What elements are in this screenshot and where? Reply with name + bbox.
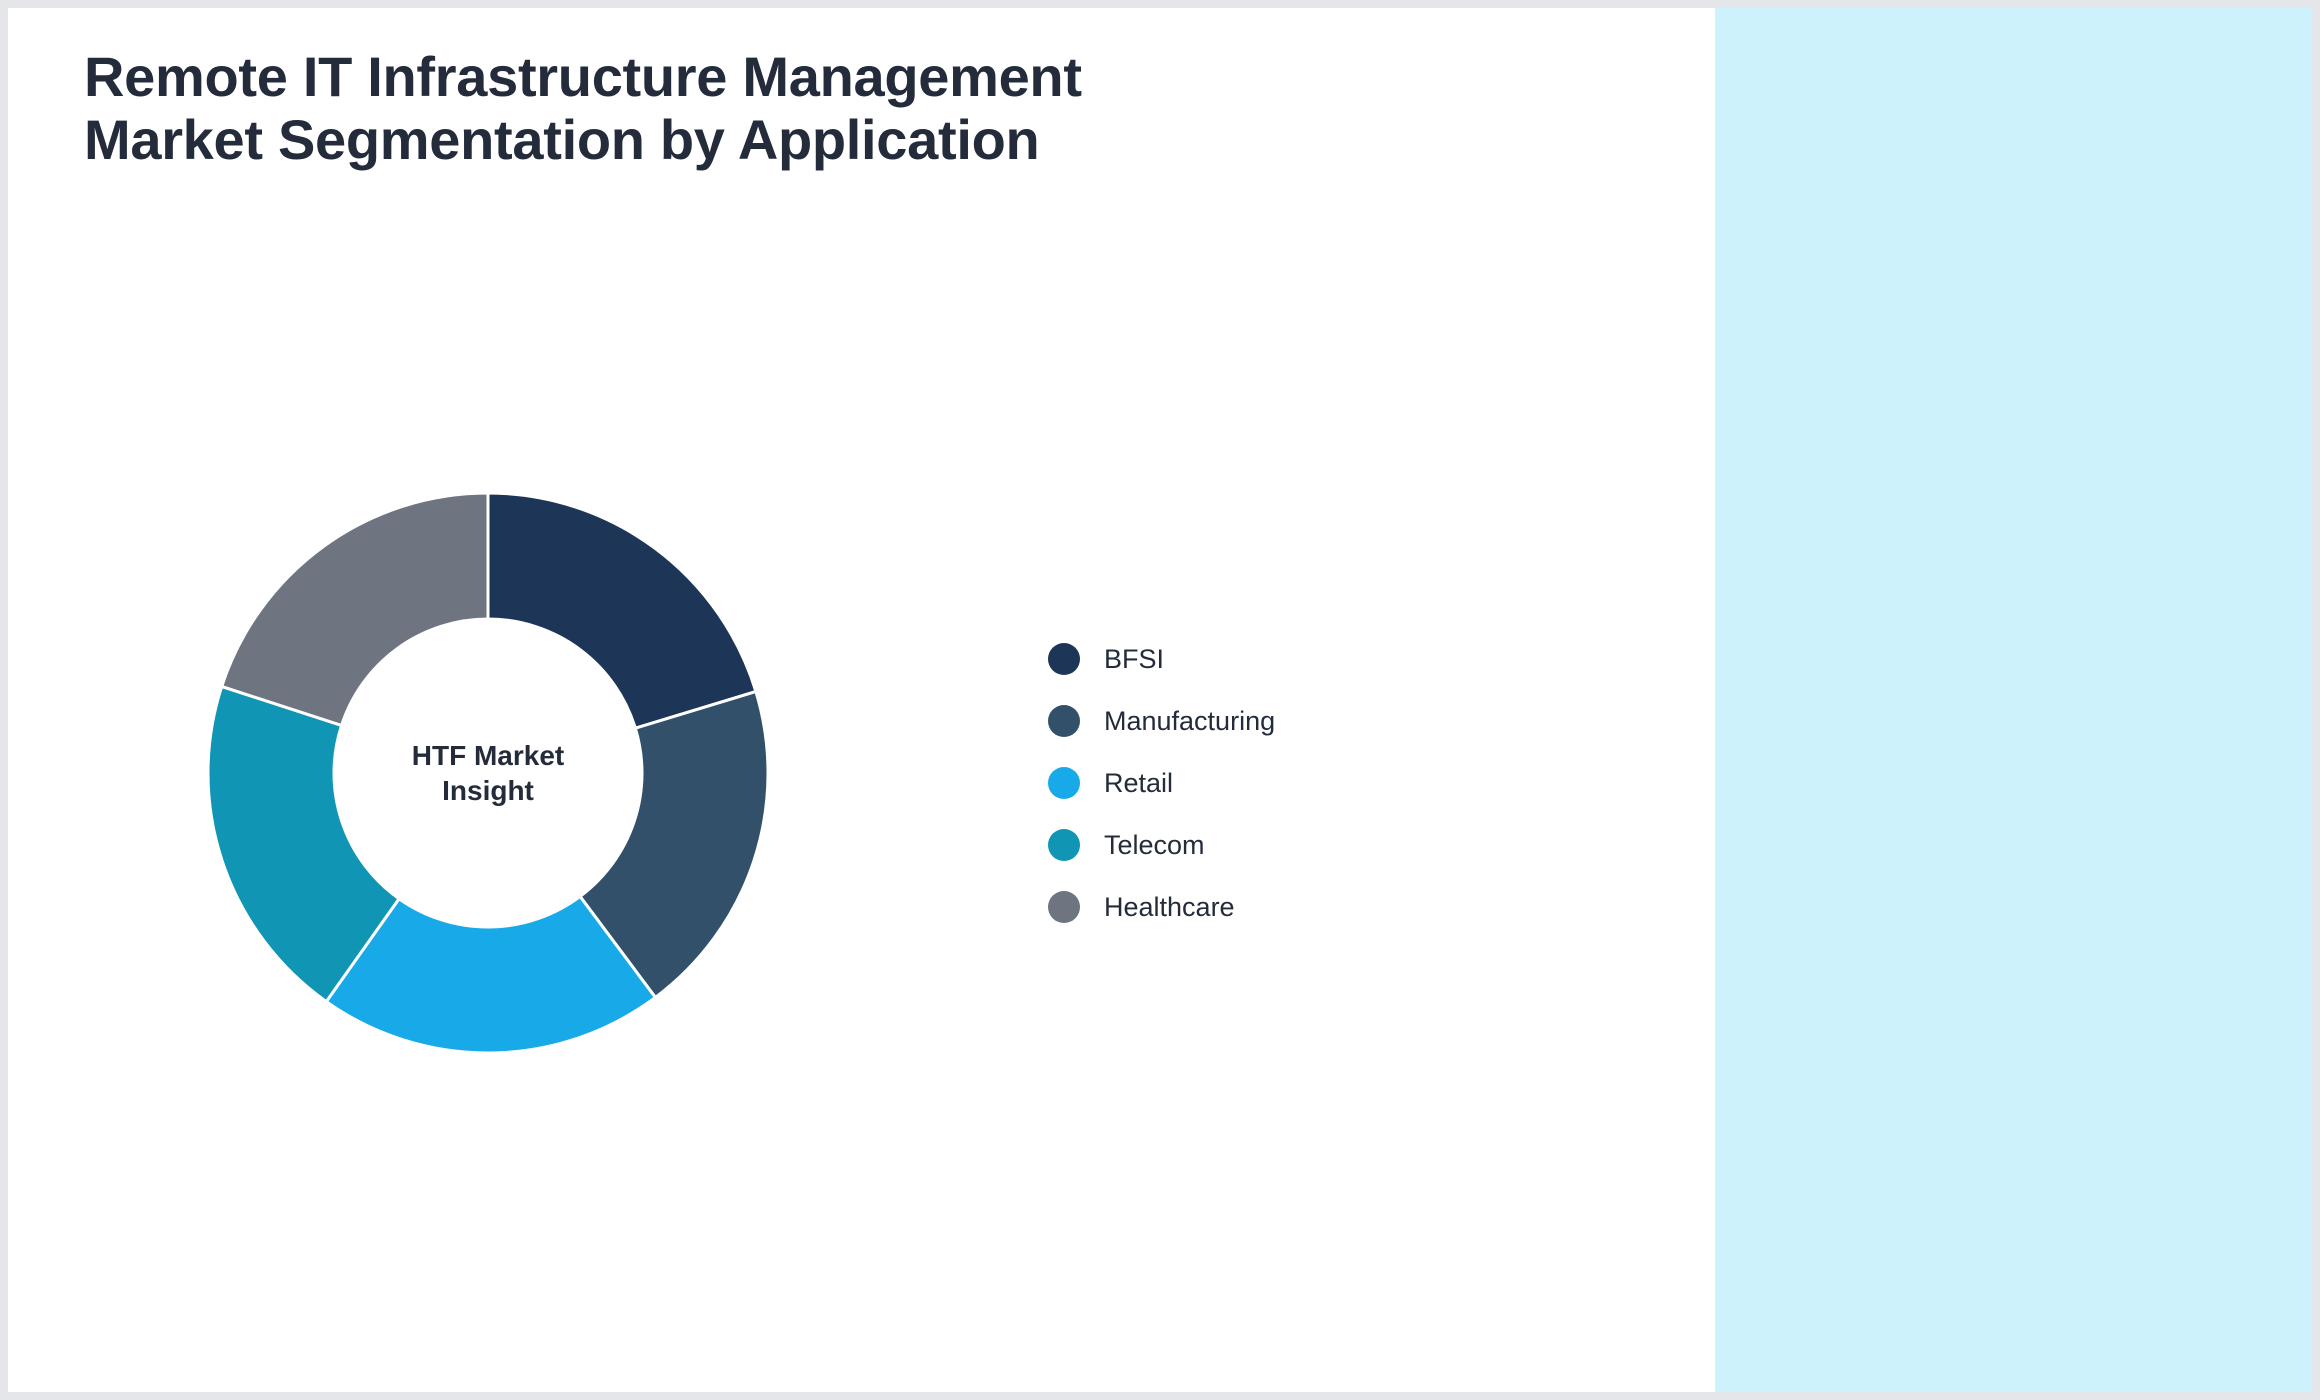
chart-legend: BFSI Manufacturing Retail Telecom Health… [1048, 628, 1468, 938]
legend-item-label: Healthcare [1104, 892, 1235, 923]
summary-panel: HTF [1715, 8, 2312, 1392]
legend-item-bfsi[interactable]: BFSI [1048, 628, 1468, 690]
legend-swatch-icon [1048, 891, 1080, 923]
donut-chart-svg [208, 493, 768, 1053]
donut-slice-healthcare[interactable] [222, 493, 488, 725]
legend-swatch-icon [1048, 767, 1080, 799]
donut-slices [208, 493, 768, 1053]
legend-item-healthcare[interactable]: Healthcare [1048, 876, 1468, 938]
chart-panel: Remote IT Infrastructure Management Mark… [8, 8, 1715, 1392]
legend-item-label: Telecom [1104, 830, 1205, 861]
page-title: Remote IT Infrastructure Management Mark… [84, 46, 1084, 171]
legend-item-label: Retail [1104, 768, 1173, 799]
donut-slice-bfsi[interactable] [488, 493, 756, 728]
legend-swatch-icon [1048, 705, 1080, 737]
legend-item-telecom[interactable]: Telecom [1048, 814, 1468, 876]
donut-chart: HTF Market Insight [208, 493, 768, 1053]
legend-item-manufacturing[interactable]: Manufacturing [1048, 690, 1468, 752]
legend-swatch-icon [1048, 643, 1080, 675]
legend-item-retail[interactable]: Retail [1048, 752, 1468, 814]
legend-swatch-icon [1048, 829, 1080, 861]
legend-item-label: BFSI [1104, 644, 1164, 675]
legend-item-label: Manufacturing [1104, 706, 1275, 737]
infographic-page: Remote IT Infrastructure Management Mark… [0, 0, 2320, 1400]
